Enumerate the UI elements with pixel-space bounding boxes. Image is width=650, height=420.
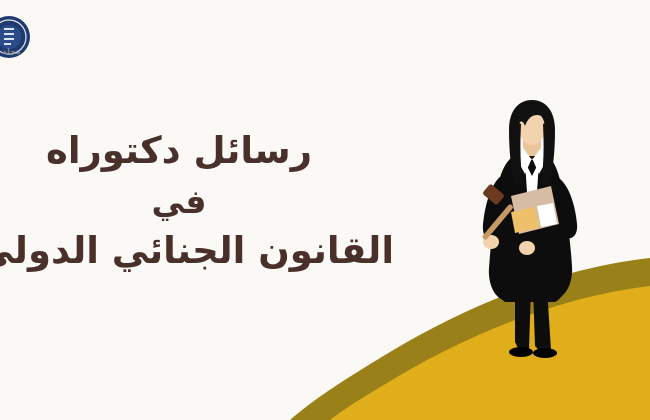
judge-shoe-right — [533, 348, 557, 358]
headline-line-2: في — [0, 185, 368, 218]
judge-illustration — [455, 100, 600, 385]
judge-hand-right — [519, 241, 535, 255]
headline-line-3: القانون الجنائي الدولي — [0, 232, 394, 269]
headline-block: رسائل دكتوراه في القانون الجنائي الدولي — [0, 132, 368, 269]
banner-canvas: مجلة رسائل دكتوراه في القانون الجنائي ال… — [0, 0, 650, 420]
headline-line-1: رسائل دكتوراه — [0, 132, 368, 169]
female-judge-figure — [455, 100, 600, 385]
judge-robe-hem — [493, 250, 568, 302]
logo-caption: مجلة — [2, 47, 21, 56]
judge-shoe-left — [509, 347, 533, 357]
